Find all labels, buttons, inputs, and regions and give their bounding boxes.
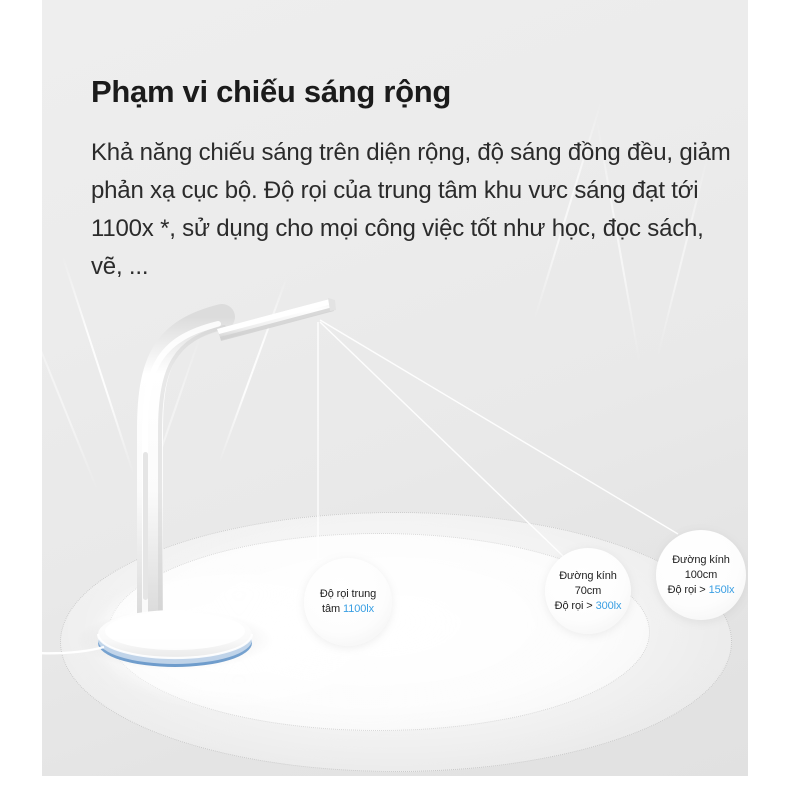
callout-2-line-3-prefix: Độ rọi >: [555, 600, 596, 612]
lamp-stem-groove: [143, 452, 148, 600]
leader-line-100cm: [320, 320, 678, 534]
background-streak-9: [42, 307, 99, 493]
callout-center-illuminance-text: Độ rọi trungtâm 1100lx: [316, 587, 380, 617]
background-streak-5: [218, 276, 288, 464]
background-streak-10: [144, 334, 201, 495]
callout-diameter-70cm-text: Đường kính70cmĐộ rọi > 300lx: [551, 569, 626, 614]
lamp-base-top-sheen: [105, 612, 245, 650]
body-paragraph: Khả năng chiếu sáng trên diện rộng, độ s…: [91, 112, 731, 286]
callout-diameter-100cm-text: Đường kính100cmĐộ rọi > 150lx: [664, 553, 739, 598]
light-pool-outer: [60, 512, 732, 772]
callout-1-value: 1100lx: [343, 603, 374, 615]
leader-line-70cm: [320, 322, 563, 556]
callout-3-line-3-prefix: Độ rọi >: [668, 584, 709, 596]
product-detail-image: Phạm vi chiếu sáng rộng Khả năng chiếu s…: [0, 0, 790, 790]
background-streak-4: [61, 255, 134, 474]
callout-diameter-100cm[interactable]: Đường kính100cmĐộ rọi > 150lx: [656, 530, 746, 620]
page-title: Phạm vi chiếu sáng rộng: [91, 72, 741, 112]
callout-diameter-70cm[interactable]: Đường kính70cmĐộ rọi > 300lx: [545, 548, 631, 634]
callout-3-line-1: Đường kính: [672, 554, 730, 566]
lamp-arm-highlight: [145, 324, 218, 628]
lamp-base-blue-ring: [98, 619, 252, 667]
callout-2-line-1: Đường kính: [559, 570, 617, 582]
callout-1-line-2-prefix: tâm: [322, 603, 343, 615]
callout-center-illuminance[interactable]: Độ rọi trungtâm 1100lx: [304, 558, 392, 646]
callout-2-line-2: 70cm: [575, 585, 602, 597]
callout-1-line-1: Độ rọi trung: [320, 588, 376, 600]
power-cord: [42, 647, 104, 653]
copy-block: Phạm vi chiếu sáng rộng Khả năng chiếu s…: [91, 72, 741, 286]
lamp-base-shadow: [77, 610, 273, 670]
lamp-base-top: [98, 610, 252, 658]
lamp-base-rim-light: [98, 634, 252, 658]
callout-2-value: 300lx: [596, 600, 622, 612]
callout-3-line-2: 100cm: [685, 569, 718, 581]
lamp-base-blue-ring-inner: [98, 616, 252, 664]
artwork-canvas: Phạm vi chiếu sáng rộng Khả năng chiếu s…: [42, 0, 748, 776]
lamp-arm-shade: [160, 327, 224, 630]
lamp-base: [98, 610, 252, 667]
lamp-arm: [150, 317, 222, 634]
callout-3-value: 150lx: [709, 584, 735, 596]
lamp-head: [217, 298, 336, 341]
